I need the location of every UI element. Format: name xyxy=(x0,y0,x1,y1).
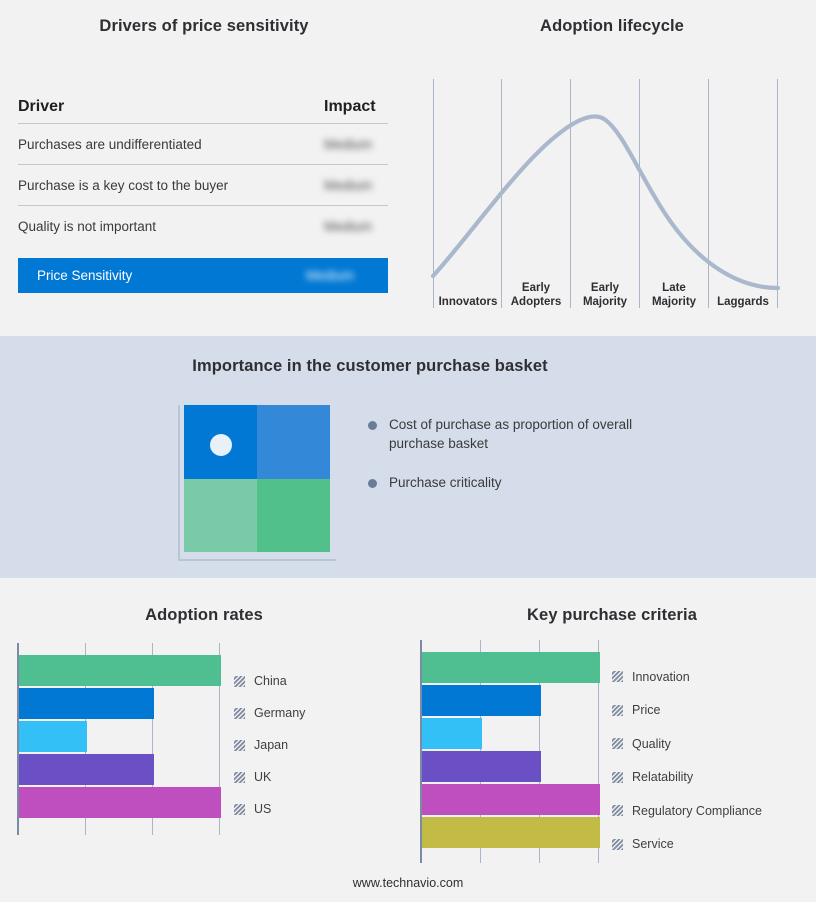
legend-label: Germany xyxy=(254,706,305,720)
legend-item-us: US xyxy=(234,793,305,825)
hatched-swatch-icon xyxy=(234,772,245,783)
legend-item-uk: UK xyxy=(234,761,305,793)
panel-drivers-of-price-sensitivity: Drivers of price sensitivity Driver Impa… xyxy=(0,0,408,336)
matrix-quadrant-top-right xyxy=(257,405,330,479)
matrix-position-marker xyxy=(210,434,232,456)
bar-japan xyxy=(19,721,87,752)
legend-item-germany: Germany xyxy=(234,697,305,729)
basket-legend-label: Purchase criticality xyxy=(389,475,502,490)
bar-us xyxy=(19,787,221,818)
panel-key-purchase-criteria: Key purchase criteria Innovation Price xyxy=(408,578,816,902)
purchase-basket-matrix xyxy=(184,405,330,552)
bar-germany xyxy=(19,688,154,719)
hatched-swatch-icon xyxy=(612,705,623,716)
legend-item-regulatory-compliance: Regulatory Compliance xyxy=(612,794,762,828)
legend-item-japan: Japan xyxy=(234,729,305,761)
matrix-y-axis xyxy=(178,405,180,560)
table-row: Quality is not important Medium xyxy=(18,206,388,247)
panel-purchase-basket: Importance in the customer purchase bask… xyxy=(0,336,816,578)
summary-impact-value: Medium xyxy=(306,268,370,283)
footer-url: www.technavio.com xyxy=(0,876,816,890)
hatched-swatch-icon xyxy=(234,804,245,815)
driver-impact-value: Medium xyxy=(324,137,388,152)
criteria-panel-title: Key purchase criteria xyxy=(408,606,816,625)
lifecycle-stage-early-adopters: Early Adopters xyxy=(503,282,569,309)
summary-label: Price Sensitivity xyxy=(37,268,132,283)
adoption-bell-curve xyxy=(433,117,778,288)
legend-label: Regulatory Compliance xyxy=(632,804,762,818)
hatched-swatch-icon xyxy=(234,676,245,687)
criteria-plot-area xyxy=(420,640,600,863)
hatched-swatch-icon xyxy=(612,805,623,816)
lifecycle-stage-innovators: Innovators xyxy=(432,296,504,310)
bullet-icon xyxy=(368,479,377,488)
hatched-swatch-icon xyxy=(612,738,623,749)
legend-label: UK xyxy=(254,770,271,784)
legend-item-quality: Quality xyxy=(612,727,762,761)
hatched-swatch-icon xyxy=(612,772,623,783)
adoption-legend: China Germany Japan UK US xyxy=(234,665,305,825)
adoption-panel-title: Adoption rates xyxy=(0,606,408,625)
legend-label: Price xyxy=(632,703,660,717)
legend-item-relatability: Relatability xyxy=(612,761,762,795)
criteria-legend: Innovation Price Quality Relatability Re… xyxy=(612,660,762,861)
list-item: Purchase criticality xyxy=(368,473,668,492)
legend-item-china: China xyxy=(234,665,305,697)
lifecycle-stage-late-majority: Late Majority xyxy=(641,282,707,309)
bullet-icon xyxy=(368,421,377,430)
hatched-swatch-icon xyxy=(234,708,245,719)
hatched-swatch-icon xyxy=(234,740,245,751)
table-row: Purchase is a key cost to the buyer Medi… xyxy=(18,165,388,206)
lifecycle-stage-laggards: Laggards xyxy=(710,296,776,310)
legend-item-price: Price xyxy=(612,694,762,728)
driver-impact-value: Medium xyxy=(324,219,388,234)
bar-uk xyxy=(19,754,154,785)
matrix-x-axis xyxy=(178,559,336,561)
lifecycle-chart: Innovators Early Adopters Early Majority… xyxy=(408,0,816,336)
legend-label: Service xyxy=(632,837,674,851)
legend-item-innovation: Innovation xyxy=(612,660,762,694)
legend-item-service: Service xyxy=(612,828,762,862)
legend-label: Quality xyxy=(632,737,671,751)
infographic-page: Drivers of price sensitivity Driver Impa… xyxy=(0,0,816,902)
legend-label: Innovation xyxy=(632,670,690,684)
lifecycle-stage-labels: Innovators Early Adopters Early Majority… xyxy=(408,282,816,324)
column-header-driver: Driver xyxy=(18,98,64,116)
table-row: Purchases are undifferentiated Medium xyxy=(18,124,388,165)
column-header-impact: Impact xyxy=(324,98,388,116)
basket-panel-title: Importance in the customer purchase bask… xyxy=(0,357,740,376)
price-sensitivity-summary-row: Price Sensitivity Medium xyxy=(18,258,388,293)
legend-label: China xyxy=(254,674,287,688)
legend-label: Japan xyxy=(254,738,288,752)
bar-service xyxy=(422,817,600,848)
adoption-plot-area xyxy=(17,643,221,835)
driver-name: Purchase is a key cost to the buyer xyxy=(18,178,228,193)
bar-relatability xyxy=(422,751,541,782)
lifecycle-stage-early-majority: Early Majority xyxy=(572,282,638,309)
drivers-panel-title: Drivers of price sensitivity xyxy=(0,17,408,36)
hatched-swatch-icon xyxy=(612,839,623,850)
legend-label: Relatability xyxy=(632,770,693,784)
basket-legend: Cost of purchase as proportion of overal… xyxy=(368,415,668,512)
driver-name: Quality is not important xyxy=(18,219,156,234)
bar-quality xyxy=(422,718,482,749)
matrix-quadrant-bottom-left xyxy=(184,479,257,553)
bar-china xyxy=(19,655,221,686)
matrix-quadrant-bottom-right xyxy=(257,479,330,553)
panel-adoption-rates: Adoption rates China Germany xyxy=(0,578,408,902)
drivers-table: Driver Impact Purchases are undifferenti… xyxy=(18,90,388,293)
hatched-swatch-icon xyxy=(612,671,623,682)
panel-adoption-lifecycle: Adoption lifecycle Innovators Early Adop… xyxy=(408,0,816,336)
basket-legend-label: Cost of purchase as proportion of overal… xyxy=(389,417,632,451)
drivers-table-header: Driver Impact xyxy=(18,90,388,124)
list-item: Cost of purchase as proportion of overal… xyxy=(368,415,668,453)
bar-price xyxy=(422,685,541,716)
matrix-quadrant-top-left xyxy=(184,405,257,479)
driver-name: Purchases are undifferentiated xyxy=(18,137,202,152)
legend-label: US xyxy=(254,802,271,816)
bar-regulatory-compliance xyxy=(422,784,600,815)
driver-impact-value: Medium xyxy=(324,178,388,193)
bar-innovation xyxy=(422,652,600,683)
